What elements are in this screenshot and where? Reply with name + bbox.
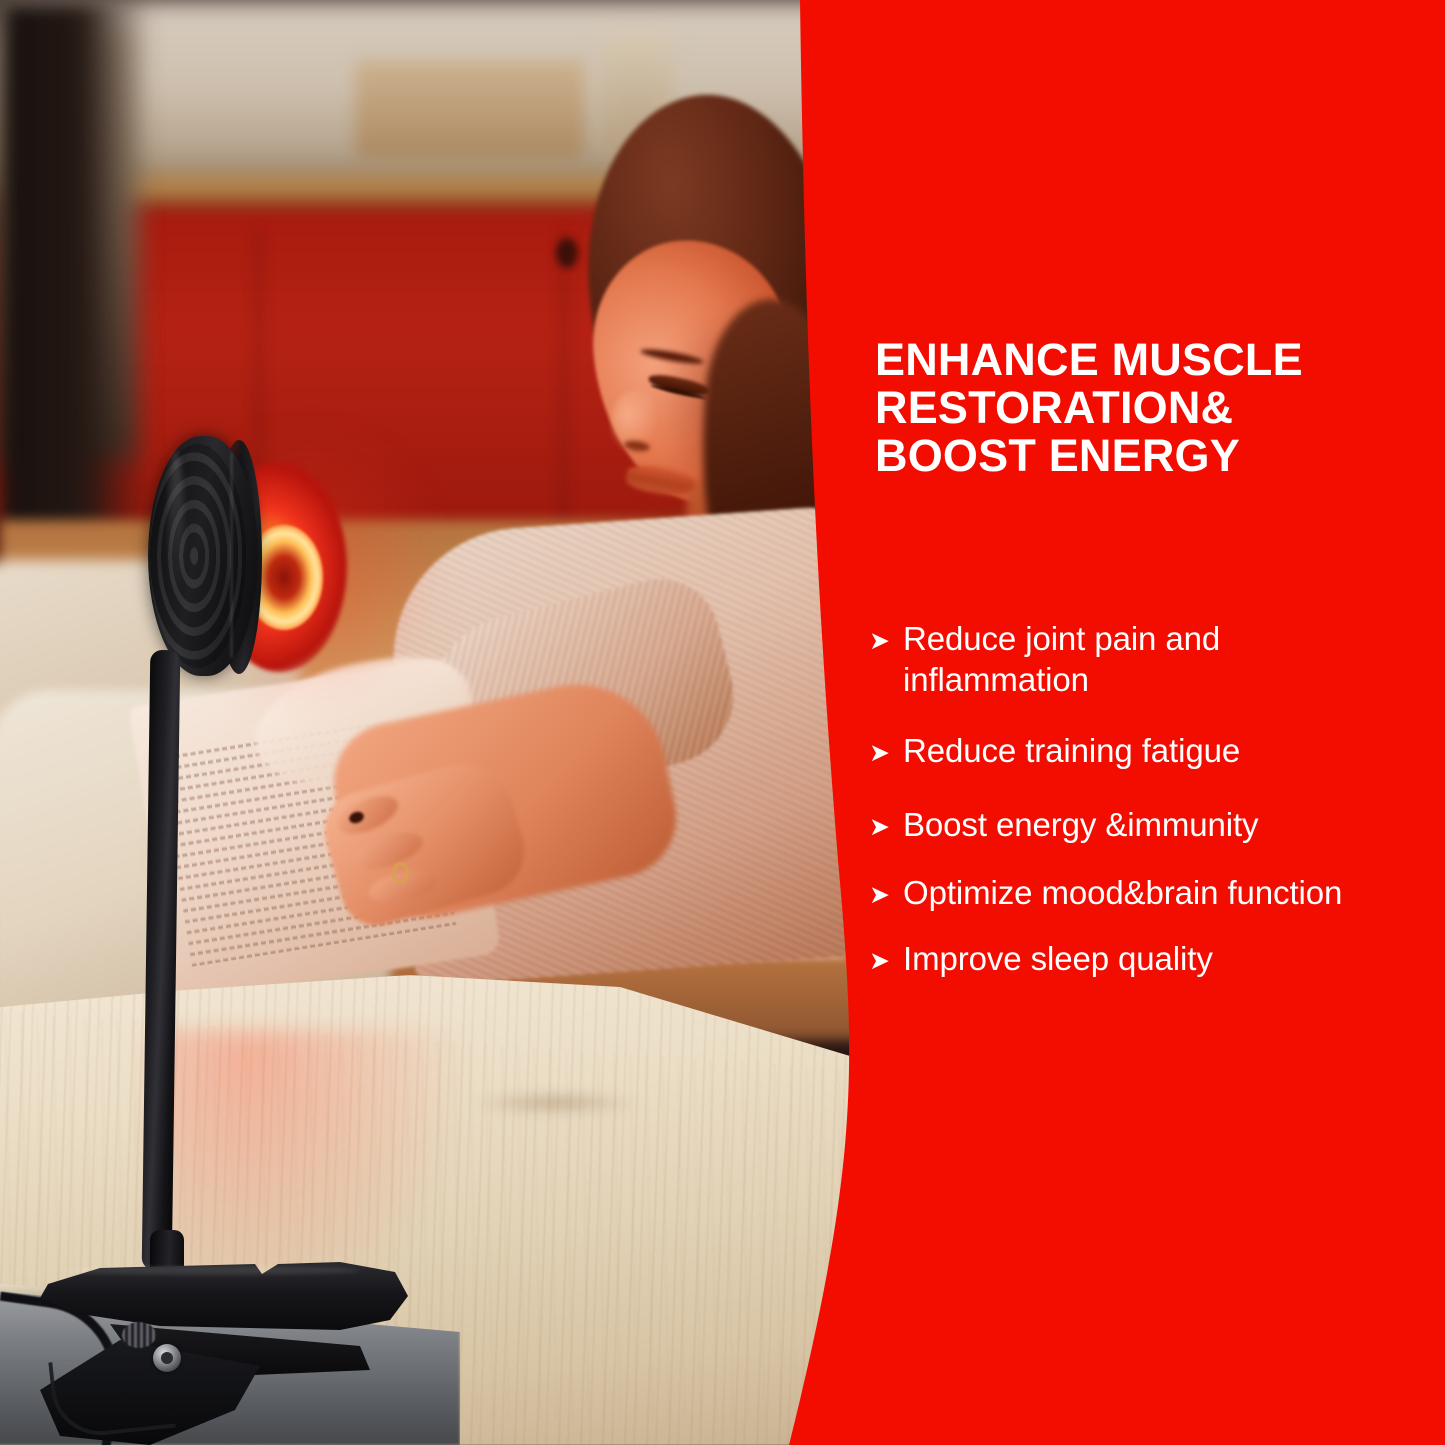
triangle-bullet-icon: ➤ (869, 939, 903, 983)
list-item: ➤ Reduce joint pain and inflammation (869, 618, 1414, 700)
benefit-text: Reduce joint pain and inflammation (903, 618, 1403, 700)
product-marketing-banner: ENHANCE MUSCLE RESTORATION& BOOST ENERGY… (0, 0, 1445, 1445)
benefit-text: Improve sleep quality (903, 938, 1213, 979)
lamp-head-highlight (168, 452, 184, 602)
triangle-bullet-icon: ➤ (869, 731, 903, 775)
clamp-spring-coil (122, 1322, 156, 1348)
list-item: ➤ Boost energy &immunity (869, 804, 1414, 848)
panel-content: ENHANCE MUSCLE RESTORATION& BOOST ENERGY… (875, 0, 1415, 1445)
gooseneck-arm (142, 650, 181, 1270)
red-light-therapy-lamp (0, 0, 880, 1445)
headline: ENHANCE MUSCLE RESTORATION& BOOST ENERGY (875, 336, 1405, 480)
benefit-text: Reduce training fatigue (903, 730, 1240, 771)
headline-line-1: ENHANCE MUSCLE (875, 336, 1405, 384)
list-item: ➤ Improve sleep quality (869, 938, 1414, 982)
triangle-bullet-icon: ➤ (869, 619, 903, 663)
product-lifestyle-photo (0, 0, 880, 1445)
benefit-text: Optimize mood&brain function (903, 872, 1342, 913)
clamp-screw-head (161, 1352, 173, 1364)
list-item: ➤ Reduce training fatigue (869, 730, 1414, 774)
benefits-list: ➤ Reduce joint pain and inflammation ➤ R… (869, 618, 1414, 982)
clamp-plate-highlight (60, 1266, 360, 1275)
headline-line-3: BOOST ENERGY (875, 432, 1405, 480)
benefit-text: Boost energy &immunity (903, 804, 1258, 845)
list-item: ➤ Optimize mood&brain function (869, 872, 1414, 916)
headline-line-2: RESTORATION& (875, 384, 1405, 432)
triangle-bullet-icon: ➤ (869, 805, 903, 849)
lamp-head-seam (230, 452, 233, 658)
triangle-bullet-icon: ➤ (869, 873, 903, 917)
